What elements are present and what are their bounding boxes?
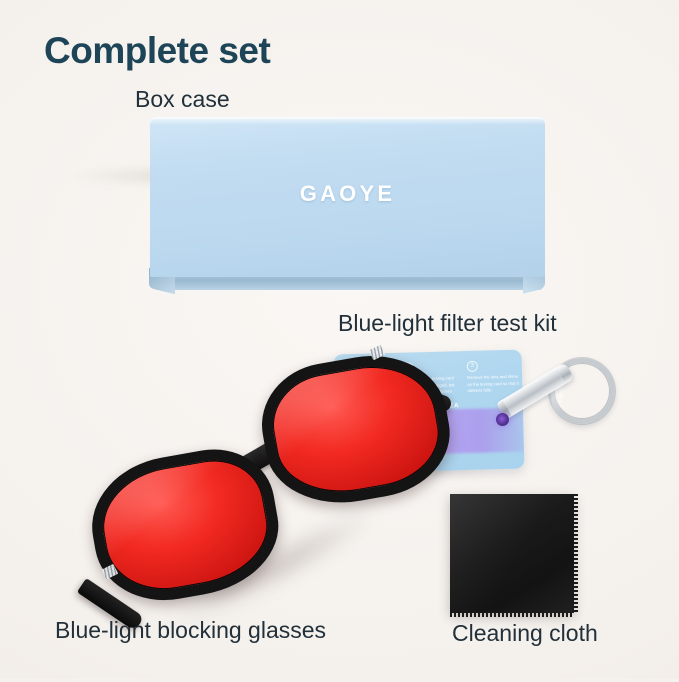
cleaning-cloth-image	[450, 494, 574, 613]
page-title: Complete set	[44, 30, 270, 72]
brand-logo: GAOYE	[150, 181, 545, 207]
box-case-image: GAOYE	[150, 117, 545, 293]
cloth-serrated-edge-bottom	[450, 612, 574, 617]
product-infographic: Complete set Box case Blue-light filter …	[0, 0, 679, 679]
uv-keychain-light-image	[497, 352, 617, 457]
label-box-case: Box case	[135, 86, 230, 113]
glasses-rotation-group	[7, 315, 476, 664]
glasses-lens-right	[252, 343, 459, 515]
step-number: 3	[467, 361, 478, 372]
cloth-body	[450, 494, 574, 613]
label-cleaning-cloth: Cleaning cloth	[452, 620, 598, 647]
uv-led-icon	[496, 413, 509, 426]
box-case-lid: GAOYE	[150, 117, 545, 277]
glasses-image	[30, 360, 450, 615]
cloth-serrated-edge-right	[573, 494, 578, 613]
